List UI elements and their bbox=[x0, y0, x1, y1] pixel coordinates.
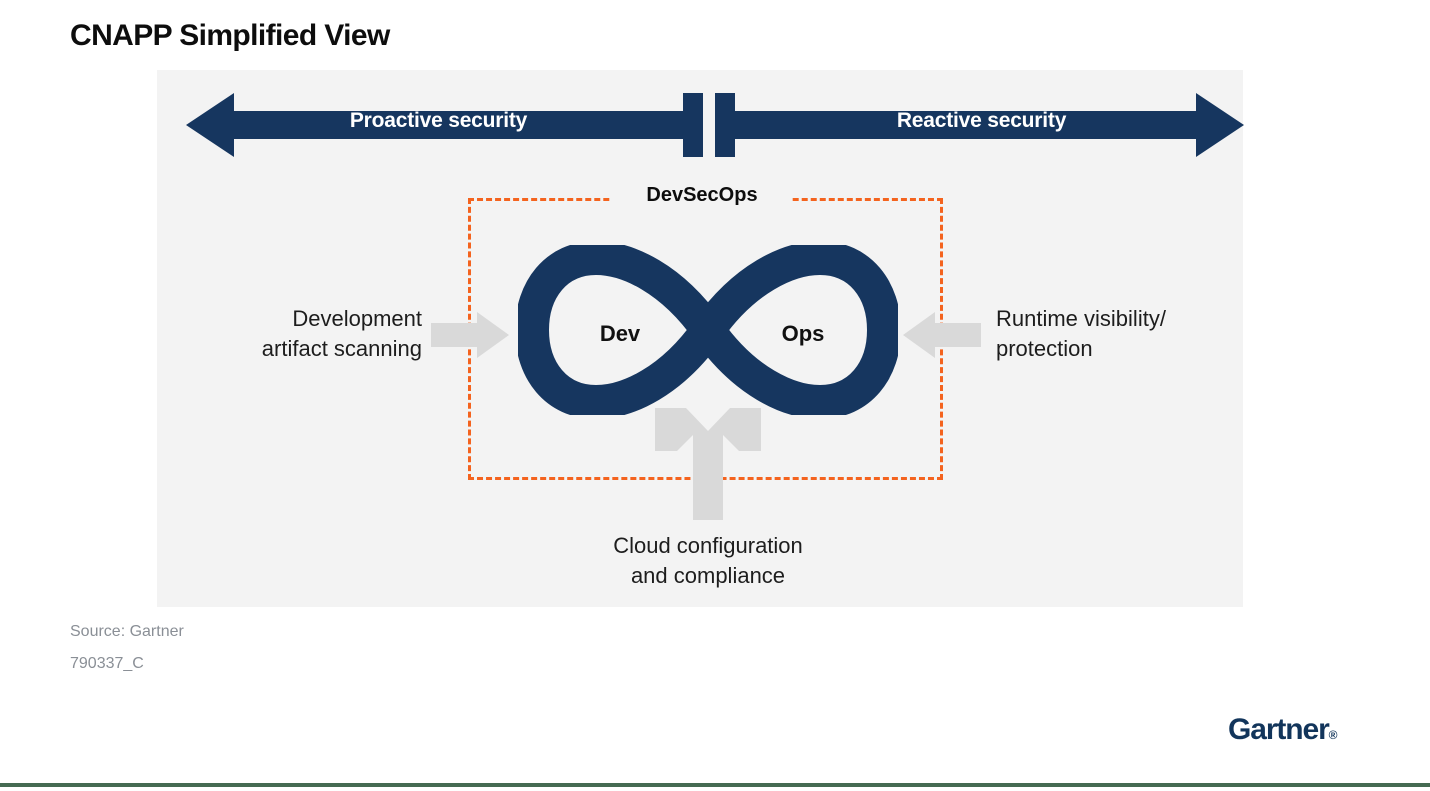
reactive-security-label: Reactive security bbox=[723, 109, 1240, 133]
gartner-logo: Gartner® bbox=[1228, 713, 1338, 747]
loop-label-dev: Dev bbox=[589, 321, 651, 347]
gartner-logo-text: Gartner bbox=[1228, 713, 1329, 746]
proactive-security-label: Proactive security bbox=[186, 109, 691, 133]
slide-canvas: CNAPP Simplified View Proactive security… bbox=[0, 0, 1430, 791]
caption-development-artifact-scanning: Development artifact scanning bbox=[212, 304, 422, 364]
infinity-loop-svg bbox=[518, 245, 898, 415]
caption-right-line1: Runtime visibility/ bbox=[996, 304, 1236, 334]
loop-label-ops: Ops bbox=[770, 321, 836, 347]
right-connector-arrow-svg bbox=[903, 312, 981, 358]
forked-arrow-pointing-up bbox=[655, 408, 761, 520]
caption-bottom-line1: Cloud configuration bbox=[558, 531, 858, 561]
caption-right-line2: protection bbox=[996, 334, 1236, 364]
devsecops-label: DevSecOps bbox=[612, 184, 792, 207]
page-title: CNAPP Simplified View bbox=[70, 19, 390, 53]
right-connector-arrow-shape bbox=[903, 312, 981, 358]
caption-left-line1: Development bbox=[212, 304, 422, 334]
caption-bottom-line2: and compliance bbox=[558, 561, 858, 591]
registered-trademark-icon: ® bbox=[1329, 728, 1338, 742]
left-connector-arrow-svg bbox=[431, 312, 509, 358]
bottom-fork-arrow-svg bbox=[655, 408, 761, 520]
arrow-pointing-left bbox=[903, 312, 981, 358]
left-connector-arrow-shape bbox=[431, 312, 509, 358]
caption-runtime-visibility-protection: Runtime visibility/ protection bbox=[996, 304, 1236, 364]
caption-left-line2: artifact scanning bbox=[212, 334, 422, 364]
source-note: Source: Gartner bbox=[70, 623, 184, 641]
bottom-fork-arrow-shape bbox=[655, 408, 761, 520]
arrow-pointing-right bbox=[431, 312, 509, 358]
devops-infinity-loop bbox=[518, 245, 898, 415]
document-id: 790337_C bbox=[70, 655, 144, 673]
bottom-rule bbox=[0, 783, 1430, 787]
caption-cloud-configuration-and-compliance: Cloud configuration and compliance bbox=[558, 531, 858, 591]
